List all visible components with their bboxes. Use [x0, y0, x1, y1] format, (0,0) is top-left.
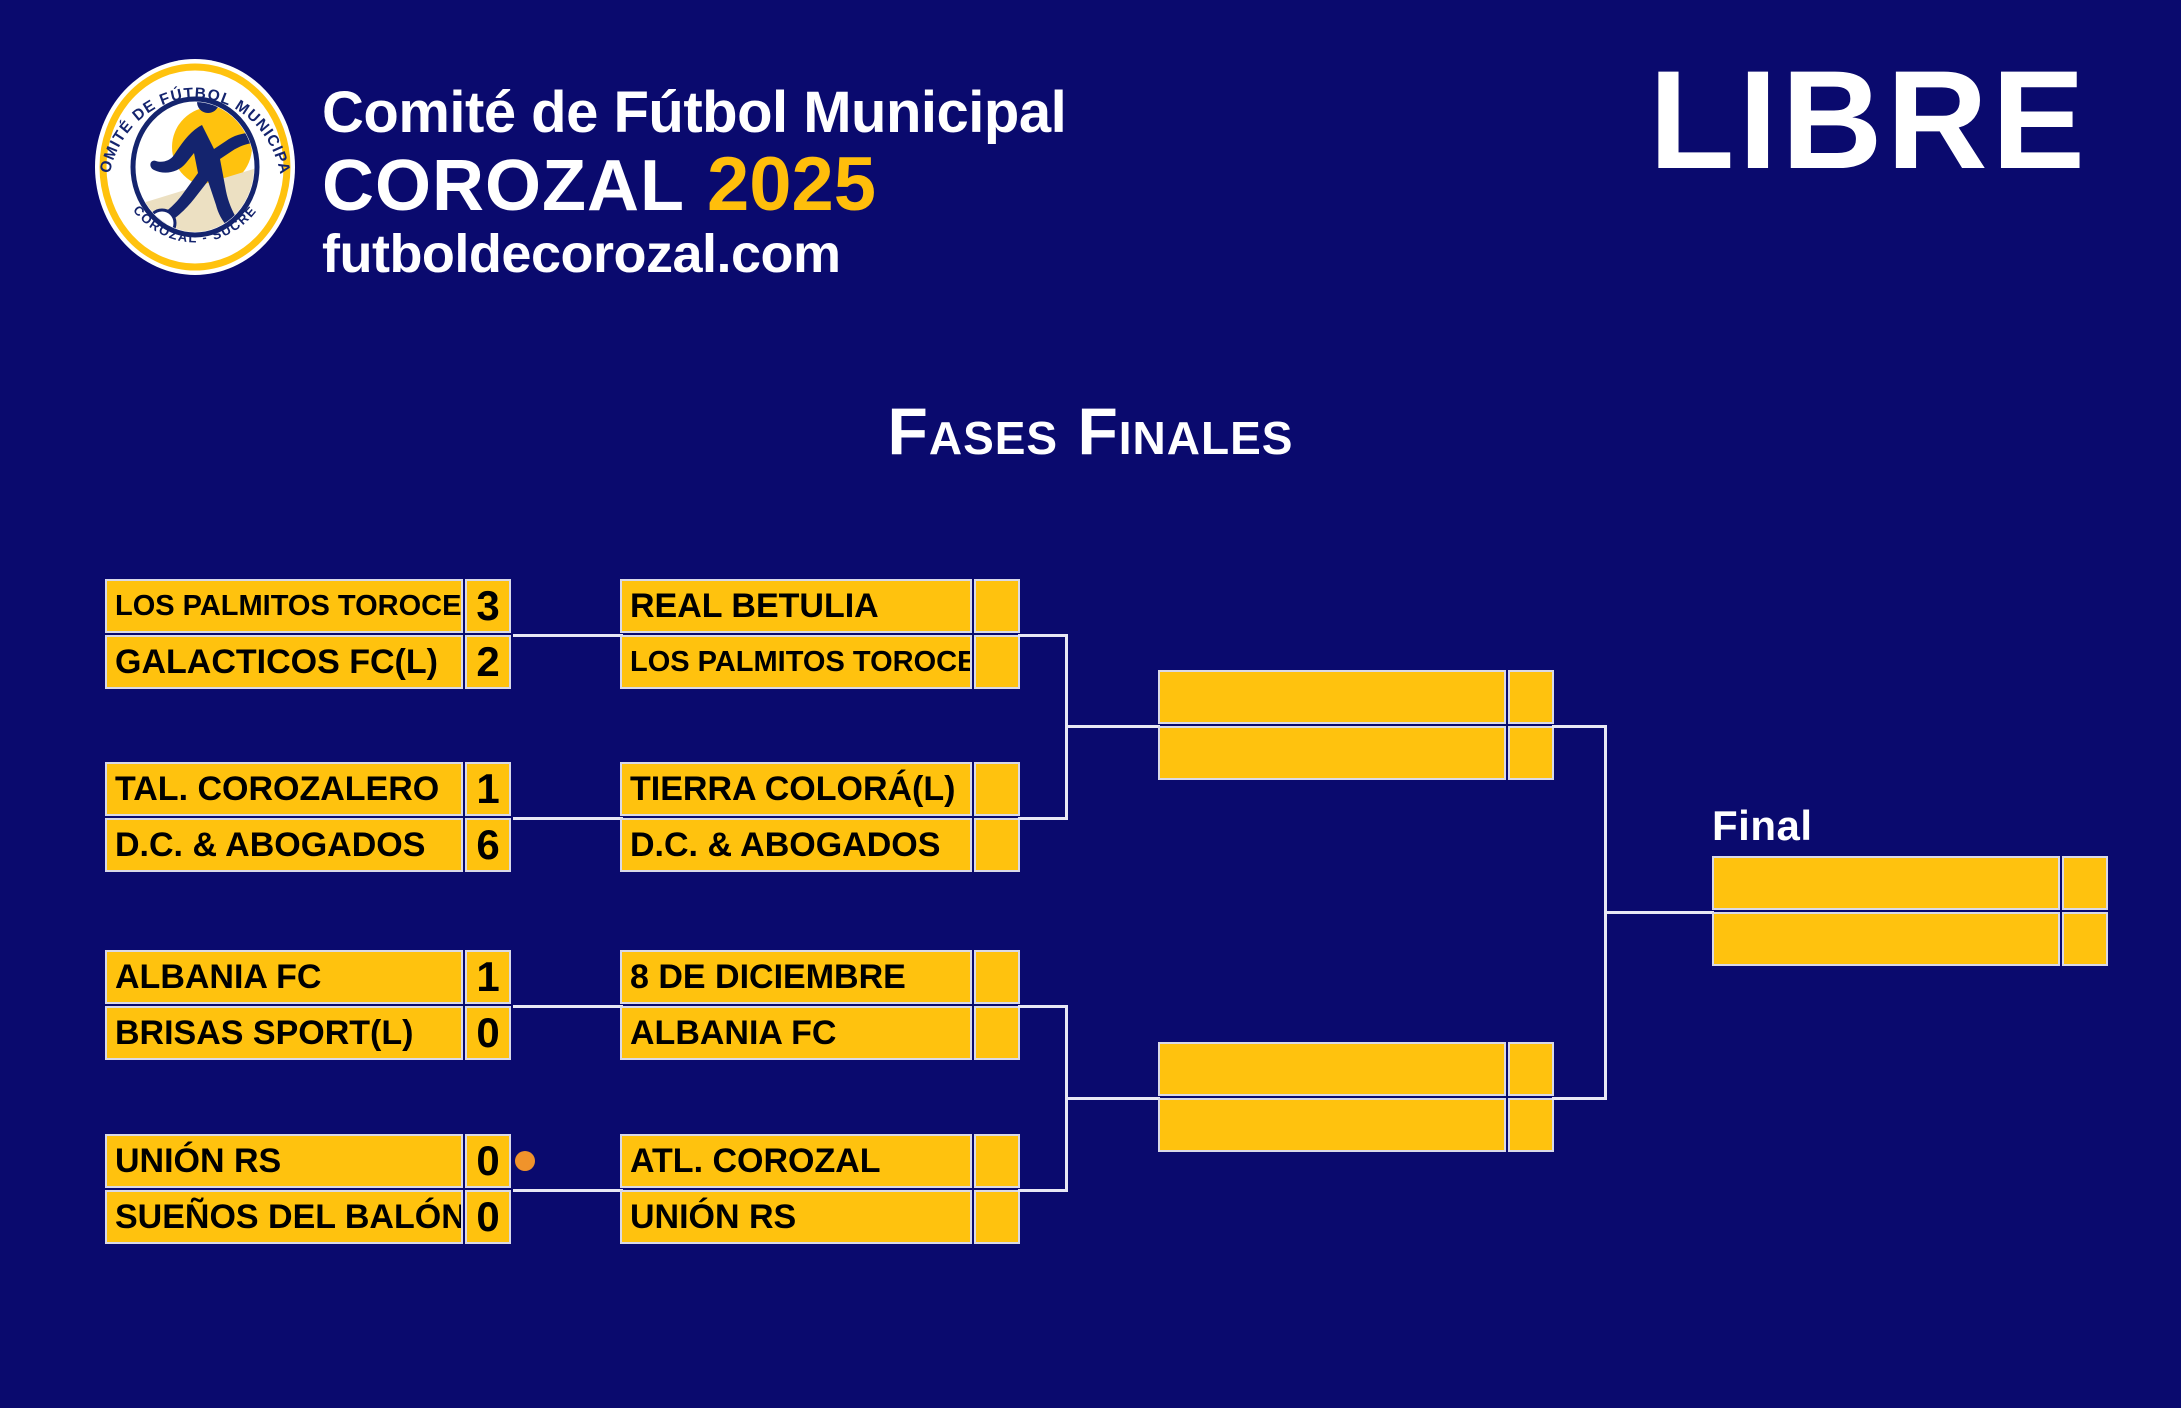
team-score: 1 [465, 950, 511, 1004]
team-score [974, 1006, 1020, 1060]
team-score: 0 [465, 1006, 511, 1060]
team-name: TAL. COROZALERO [105, 762, 463, 816]
team-name: UNIÓN RS [105, 1134, 463, 1188]
team-score: 6 [465, 818, 511, 872]
team-name [1158, 1098, 1506, 1152]
connector-r3-m1-out [1552, 725, 1607, 728]
connector-r1-m4 [513, 1189, 623, 1192]
team-score [2062, 912, 2108, 966]
team-score [974, 579, 1020, 633]
team-name: GALACTICOS FC(L) [105, 635, 463, 689]
team-name: 8 DE DICIEMBRE [620, 950, 972, 1004]
team-score [974, 950, 1020, 1004]
team-name: UNIÓN RS [620, 1190, 972, 1244]
team-score [974, 635, 1020, 689]
connector-r2-m1-out [1018, 634, 1068, 637]
team-name: LOS PALMITOS TOROCEL [620, 635, 972, 689]
team-score [1508, 1042, 1554, 1096]
team-score: 1 [465, 762, 511, 816]
team-name: REAL BETULIA [620, 579, 972, 633]
team-name: ALBANIA FC [620, 1006, 972, 1060]
connector-r2-m2-out [1018, 817, 1068, 820]
team-name [1712, 856, 2060, 910]
final-round-label: Final [1712, 802, 1813, 850]
connector-r3-m2-in [1065, 1097, 1160, 1100]
team-name [1158, 670, 1506, 724]
team-score [974, 818, 1020, 872]
connector-r2-m4-out [1018, 1189, 1068, 1192]
team-name: ALBANIA FC [105, 950, 463, 1004]
connector-r1-m2 [513, 817, 623, 820]
team-name: ATL. COROZAL [620, 1134, 972, 1188]
team-name [1158, 726, 1506, 780]
bracket: LOS PALMITOS TOROCEL 3 GALACTICOS FC(L) … [0, 0, 2181, 1408]
team-score: 0 [465, 1134, 511, 1188]
team-score: 2 [465, 635, 511, 689]
team-score [2062, 856, 2108, 910]
team-score [974, 1190, 1020, 1244]
connector-r3-m1-in [1065, 725, 1160, 728]
team-score: 3 [465, 579, 511, 633]
connector-r2-m3-out [1018, 1005, 1068, 1008]
pending-match-marker-dot [515, 1151, 535, 1171]
team-name: TIERRA COLORÁ(L) [620, 762, 972, 816]
connector-final-in [1604, 911, 1714, 914]
team-score [974, 762, 1020, 816]
team-name: D.C. & ABOGADOS [105, 818, 463, 872]
team-name: D.C. & ABOGADOS [620, 818, 972, 872]
team-score: 0 [465, 1190, 511, 1244]
team-name: LOS PALMITOS TOROCEL [105, 579, 463, 633]
connector-r3-m2-out [1552, 1097, 1607, 1100]
team-name: SUEÑOS DEL BALÓN [105, 1190, 463, 1244]
team-name [1158, 1042, 1506, 1096]
team-score [1508, 670, 1554, 724]
team-name [1712, 912, 2060, 966]
team-score [1508, 1098, 1554, 1152]
connector-r1-m3 [513, 1005, 623, 1008]
team-name: BRISAS SPORT(L) [105, 1006, 463, 1060]
tournament-bracket-page: COMITÉ DE FÚTBOL MUNICIPAL COROZAL - SUC… [0, 0, 2181, 1408]
team-score [974, 1134, 1020, 1188]
connector-r1-m1 [513, 634, 623, 637]
team-score [1508, 726, 1554, 780]
